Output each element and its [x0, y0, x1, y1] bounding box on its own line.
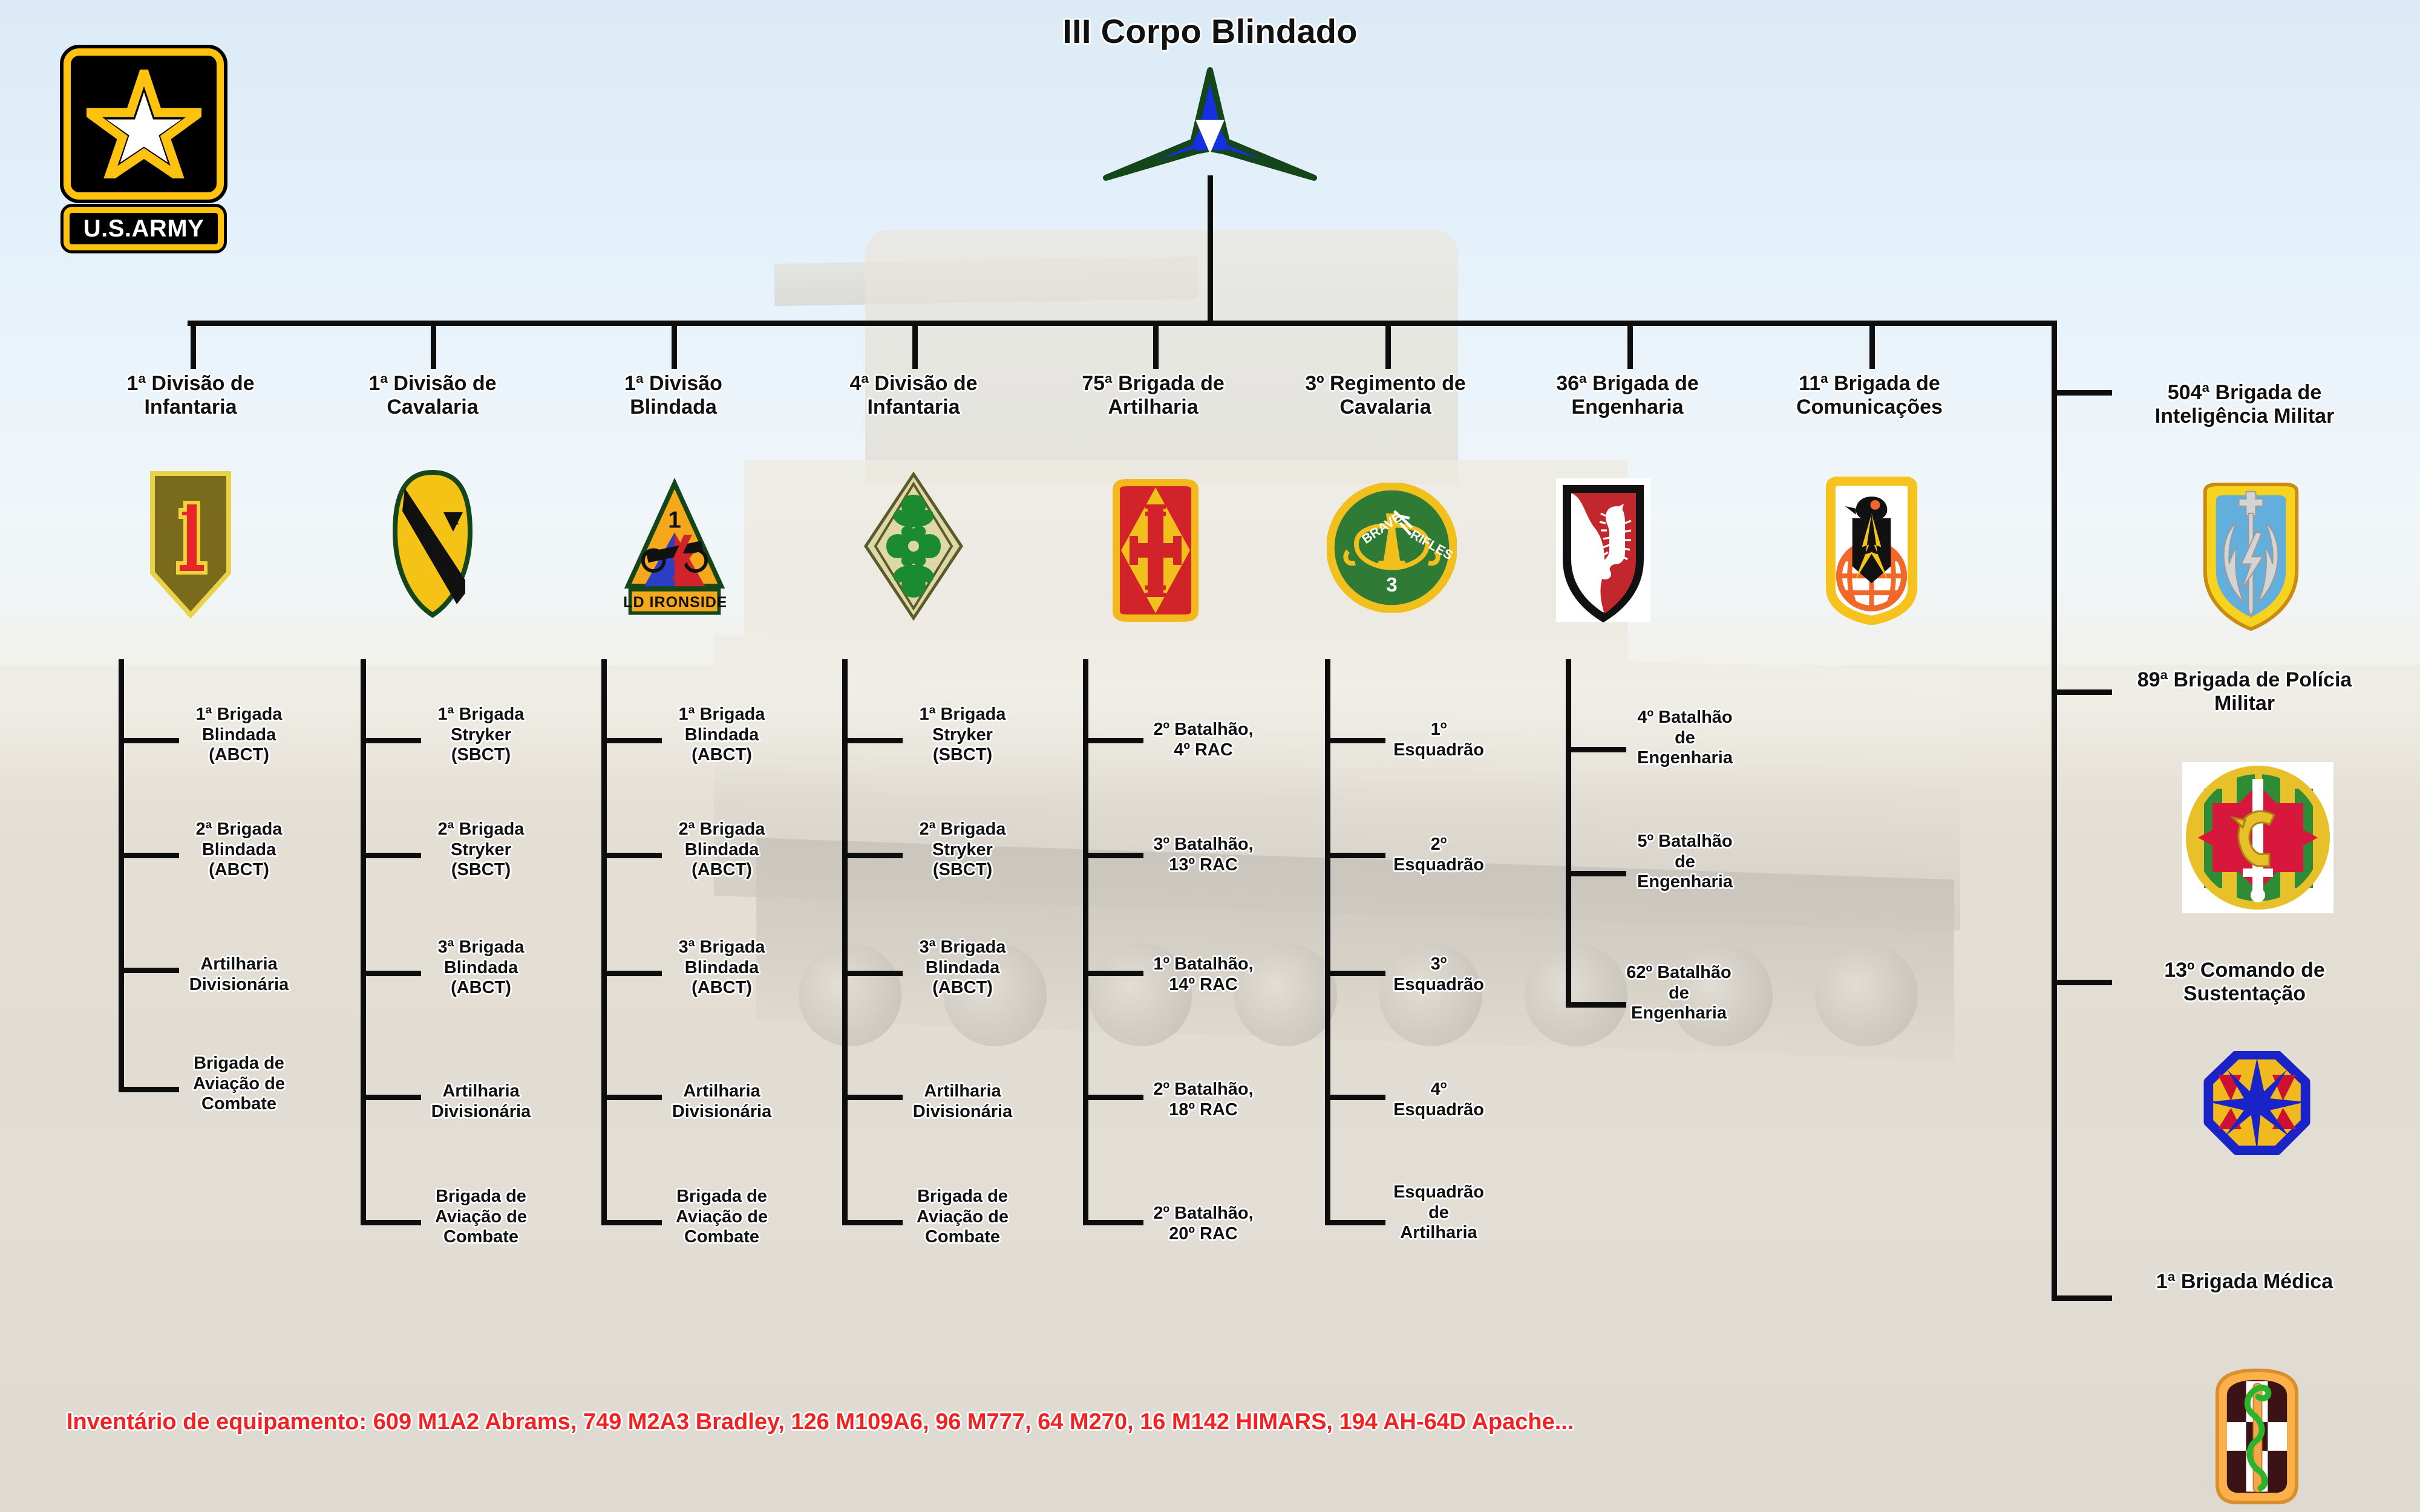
subunit-item: 2º Batalhão, 20º RAC: [1125, 1204, 1282, 1244]
89th-military-police-brigade-patch: [2179, 759, 2337, 916]
drop-col-5: [1153, 321, 1159, 369]
subunit-item: 1ª Brigada Blindada (ABCT): [160, 705, 318, 766]
col-5-spine: [1083, 659, 1088, 1225]
unit-title-504a-brigada-inteligencia: 504ª Brigada de Inteligência Militar: [2117, 381, 2372, 429]
subunit-item: 2º Esquadrão: [1360, 835, 1517, 875]
svg-text:3: 3: [1386, 573, 1397, 596]
drop-col-6: [1385, 321, 1391, 369]
subunit-item: 4º Batalhão de Engenharia: [1606, 708, 1764, 769]
subunit-item: 5º Batalhão de Engenharia: [1606, 832, 1764, 893]
army-wordmark: U.S.ARMY: [64, 207, 224, 250]
subunit-item: 1º Batalhão, 14º RAC: [1125, 954, 1282, 995]
col-2-spine: [361, 659, 366, 1225]
11th-signal-brigade-patch: [1814, 472, 1929, 629]
drop-col-1: [191, 321, 196, 369]
subunit-item: 1ª Brigada Blindada (ABCT): [643, 705, 800, 766]
unit-title-1a-divisao-infantaria: 1ª Divisão de Infantaria: [100, 372, 281, 420]
1st-infantry-division-patch: [145, 466, 236, 623]
75th-artillery-brigade-patch: [1101, 475, 1210, 626]
subunit-item: 2ª Brigada Stryker (SBCT): [402, 820, 560, 881]
subunit-item: Artilharia Divisionária: [160, 954, 318, 995]
unit-title-75a-brigada-artilharia: 75ª Brigada de Artilharia: [1062, 372, 1244, 420]
unit-title-1a-divisao-cavalaria: 1ª Divisão de Cavalaria: [342, 372, 523, 420]
col-6-spine: [1325, 659, 1330, 1225]
3rd-cavalry-regiment-patch: BRAVE RIFLES 3: [1325, 478, 1458, 617]
army-star-icon: [87, 70, 201, 178]
1st-cavalry-division-patch: [387, 466, 478, 623]
1st-medical-brigade-patch: [2205, 1361, 2308, 1512]
unit-title-11a-brigada-comunicacoes: 11ª Brigada de Comunicações: [1779, 372, 1960, 420]
drop-col-4: [912, 321, 918, 369]
tick-side-3: [2052, 1295, 2112, 1301]
root-connector: [1208, 175, 1213, 324]
col-1-spine: [119, 659, 124, 1092]
unit-title-1a-divisao-blindada: 1ª Divisão Blindada: [583, 372, 764, 420]
unit-title-13o-comando-sustentacao: 13º Comando de Sustentação: [2117, 959, 2372, 1006]
drop-col-7: [1627, 321, 1633, 369]
iii-corps-insignia: [1095, 67, 1325, 181]
main-bus: [188, 321, 2057, 326]
col-3-spine: [601, 659, 607, 1225]
drop-col-3: [672, 321, 677, 369]
36th-engineer-brigade-patch: [1506, 472, 1700, 629]
unit-title-1a-brigada-medica: 1ª Brigada Médica: [2117, 1270, 2372, 1294]
tick-side-2: [2052, 980, 2112, 985]
subunit-item: 1º Esquadrão: [1360, 720, 1517, 760]
subunit-item: 2º Batalhão, 18º RAC: [1125, 1080, 1282, 1120]
svg-text:OLD IRONSIDES: OLD IRONSIDES: [623, 594, 726, 611]
subunit-item: Artilharia Divisionária: [884, 1081, 1041, 1122]
unit-title-36a-brigada-engenharia: 36ª Brigada de Engenharia: [1537, 372, 1718, 420]
equipment-inventory-note: Inventário de equipamento: 609 M1A2 Abra…: [67, 1409, 2124, 1435]
svg-text:1: 1: [668, 507, 681, 533]
subunit-item: Esquadrão de Artilharia: [1360, 1182, 1517, 1243]
subunit-item: 3º Esquadrão: [1360, 954, 1517, 995]
army-star-box: [64, 48, 224, 200]
subunit-item: Brigada de Aviação de Combate: [643, 1187, 800, 1248]
tick-side-0: [2052, 390, 2112, 396]
subunit-item: 62º Batalhão de Engenharia: [1600, 963, 1758, 1024]
col-4-spine: [842, 659, 848, 1225]
subunit-item: Brigada de Aviação de Combate: [884, 1187, 1041, 1248]
subunit-item: 2ª Brigada Blindada (ABCT): [160, 820, 318, 881]
13th-sustainment-command-patch: [2190, 1046, 2323, 1185]
subunit-item: 1ª Brigada Stryker (SBCT): [402, 705, 560, 766]
tick-side-1: [2052, 689, 2112, 695]
1st-armored-division-patch: 1 OLD IRONSIDES: [623, 472, 726, 623]
unit-title-3o-regimento-cavalaria: 3º Regimento de Cavalaria: [1295, 372, 1476, 420]
subunit-item: 3ª Brigada Blindada (ABCT): [884, 937, 1041, 999]
subunit-item: 4º Esquadrão: [1360, 1080, 1517, 1120]
subunit-item: 2ª Brigada Blindada (ABCT): [643, 820, 800, 881]
subunit-item: 2º Batalhão, 4º RAC: [1125, 720, 1282, 760]
subunit-item: 3º Batalhão, 13º RAC: [1125, 835, 1282, 875]
us-army-logo: U.S.ARMY: [64, 48, 224, 250]
subunit-item: Artilharia Divisionária: [402, 1081, 560, 1122]
unit-title-89a-brigada-policia-militar: 89ª Brigada de Polícia Militar: [2117, 668, 2372, 716]
subunit-item: Artilharia Divisionária: [643, 1081, 800, 1122]
side-column-spine: [2052, 321, 2057, 1300]
subunit-item: Brigada de Aviação de Combate: [402, 1187, 560, 1248]
drop-col-2: [431, 321, 436, 369]
4th-infantry-division-patch: [862, 469, 965, 623]
subunit-item: 1ª Brigada Stryker (SBCT): [884, 705, 1041, 766]
subunit-item: 2ª Brigada Stryker (SBCT): [884, 820, 1041, 881]
page-title: III Corpo Blindado: [907, 12, 1512, 51]
col-7-spine: [1566, 659, 1571, 1007]
unit-title-4a-divisao-infantaria: 4ª Divisão de Infantaria: [823, 372, 1004, 420]
504th-military-intelligence-brigade-patch: [2190, 478, 2311, 635]
subunit-item: Brigada de Aviação de Combate: [160, 1054, 318, 1115]
drop-col-8: [1869, 321, 1875, 369]
subunit-item: 3ª Brigada Blindada (ABCT): [643, 937, 800, 999]
subunit-item: 3ª Brigada Blindada (ABCT): [402, 937, 560, 999]
